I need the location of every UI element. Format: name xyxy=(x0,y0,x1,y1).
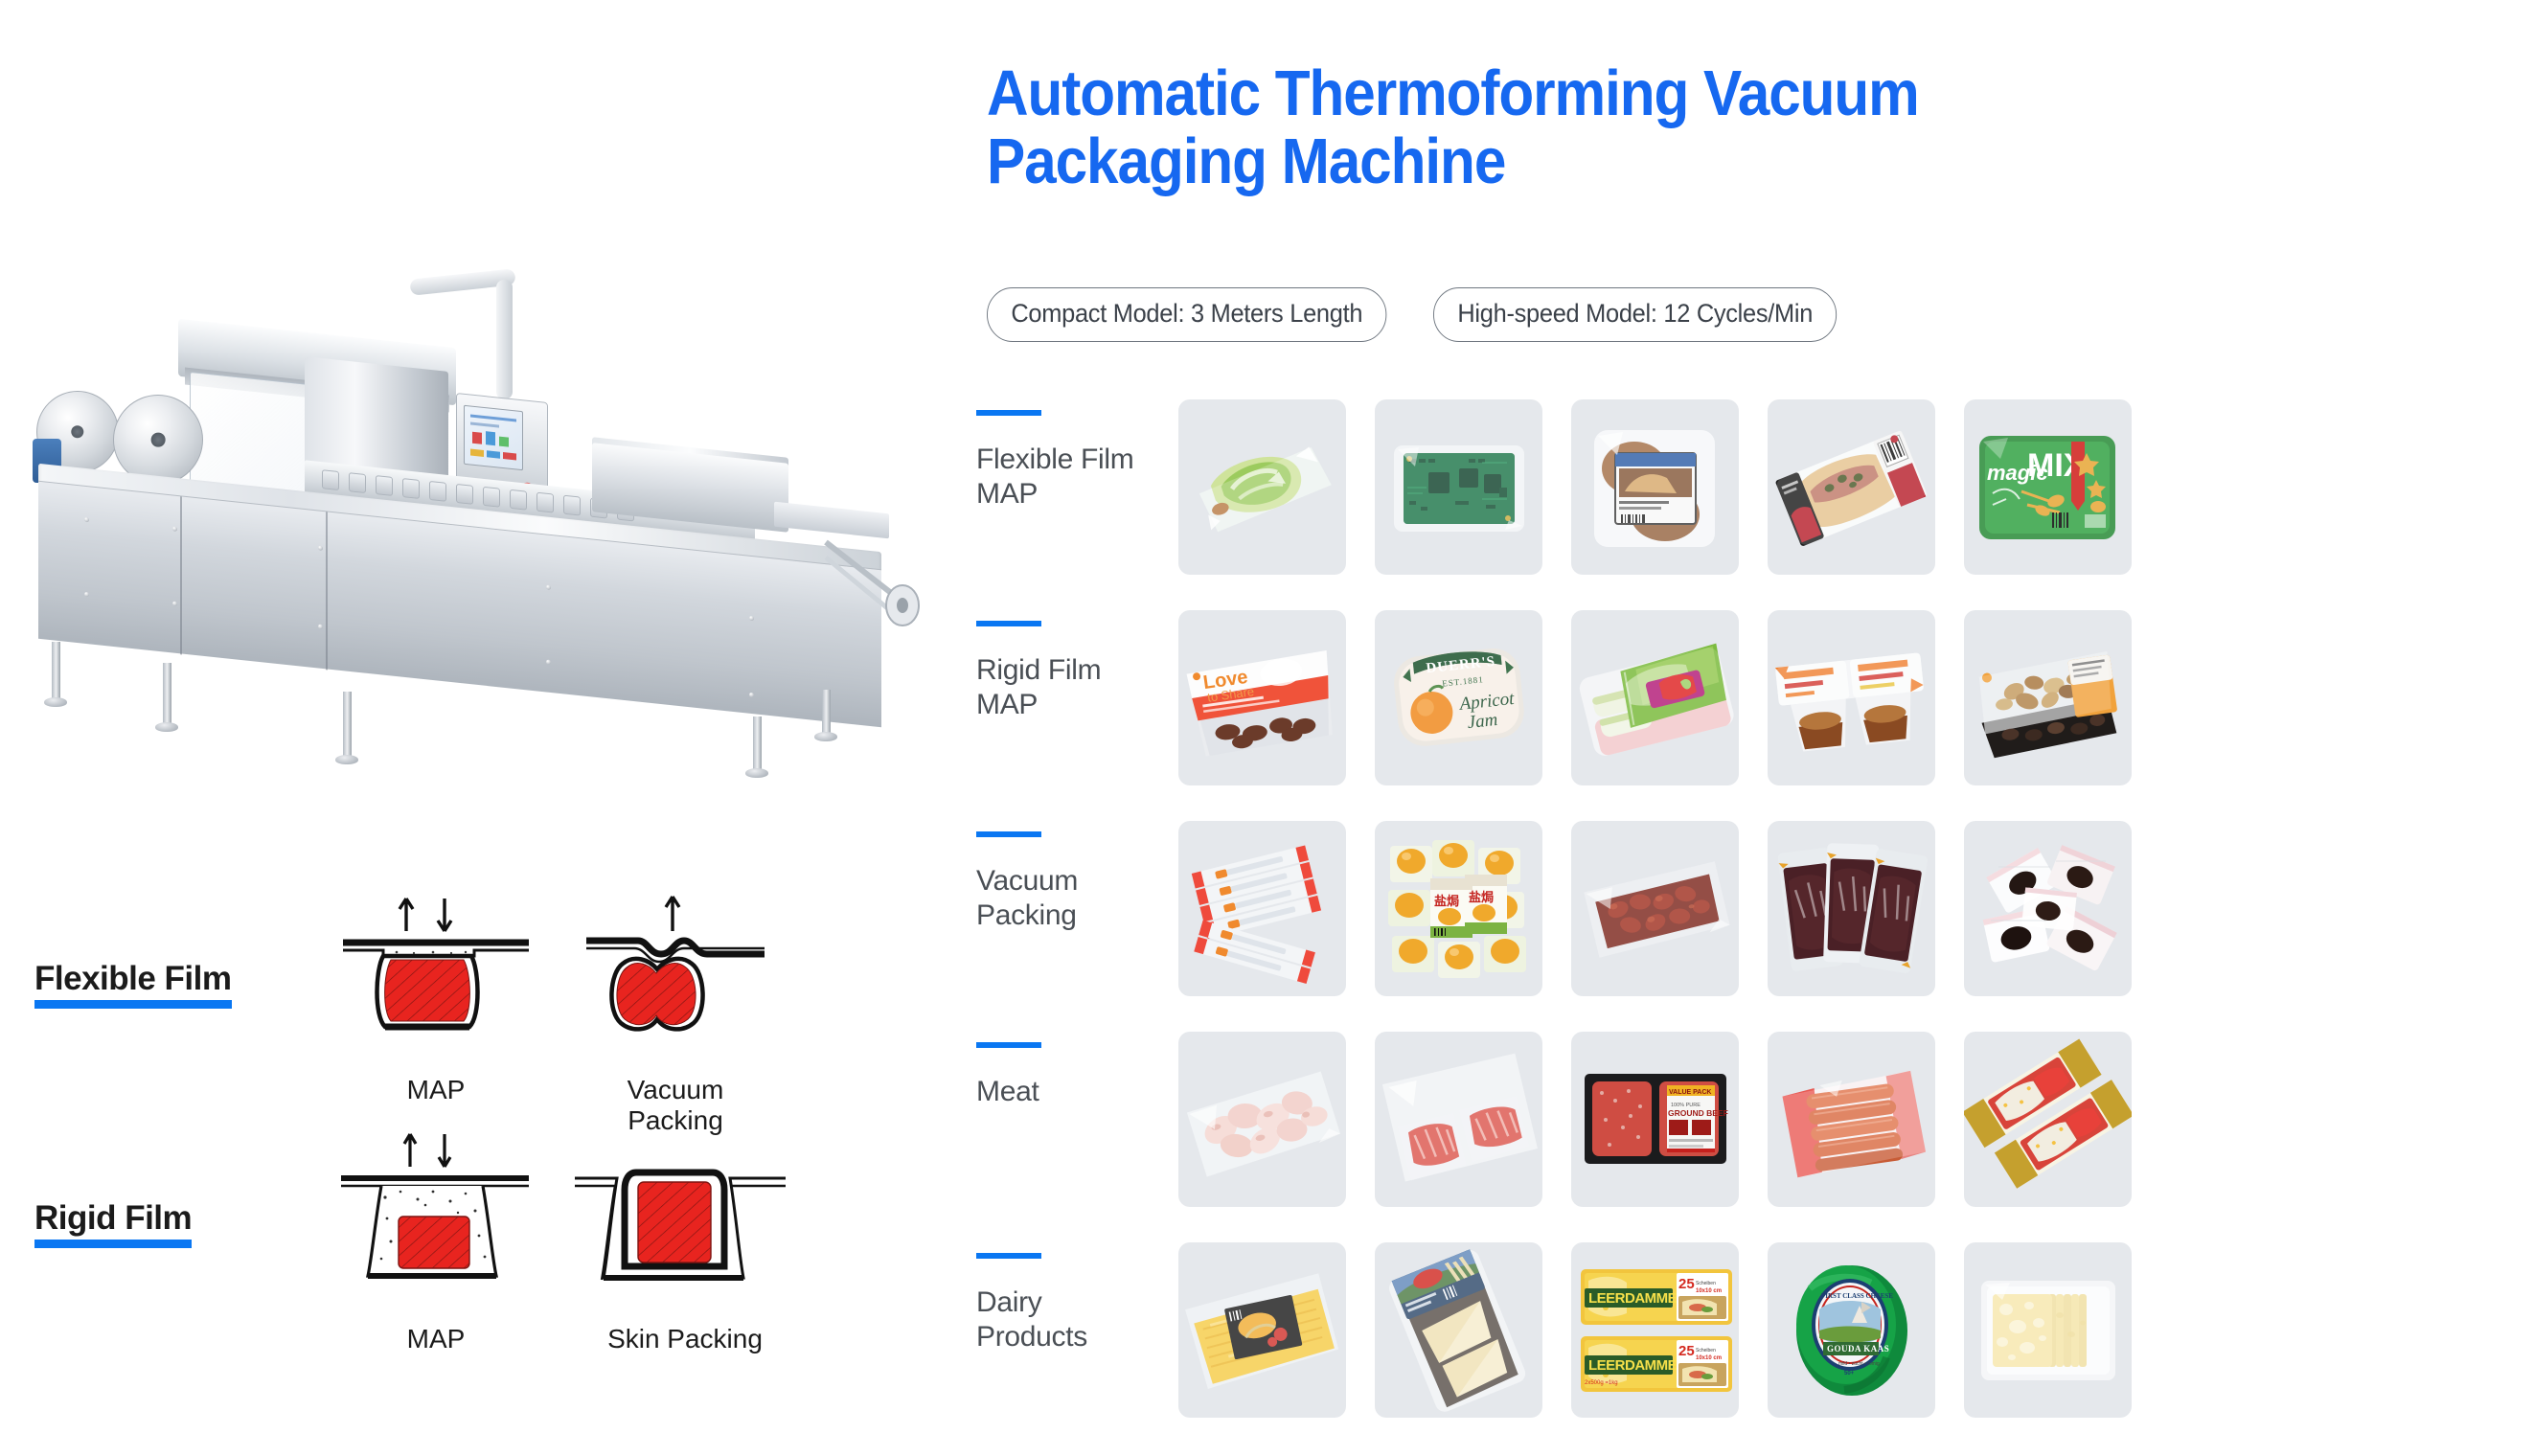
machine-leg xyxy=(52,642,60,701)
page-title-line2: Packaging Machine xyxy=(987,125,1505,197)
product-tile-braised-meat-pouch[interactable] xyxy=(1571,821,1739,996)
product-tile-preserved-fruit-sachets[interactable] xyxy=(1964,821,2132,996)
row-label-rigid-film-map: Rigid Film MAP xyxy=(976,621,1158,722)
machine-foot xyxy=(44,697,67,707)
grid-row-flexible-film-map: Flexible Film MAP xyxy=(968,383,2534,594)
model-badge-group: Compact Model: 3 Meters Length High-spee… xyxy=(987,287,1863,342)
product-tile-mixed-nuts-tray[interactable] xyxy=(1964,610,2132,785)
machine-film-reel-front xyxy=(113,395,203,485)
badge-compact-model[interactable]: Compact Model: 3 Meters Length xyxy=(987,287,1387,342)
label-underline xyxy=(34,1240,192,1248)
application-grid: Flexible Film MAP xyxy=(968,383,2534,1437)
product-tile-kimchi-vegetable-packs[interactable] xyxy=(1964,1032,2132,1207)
product-tile-beef-slices-tray[interactable] xyxy=(1375,1032,1542,1207)
diagram-group-label-text: Flexible Film xyxy=(34,960,232,997)
product-tile-bread-rolls-pack[interactable] xyxy=(1571,399,1739,575)
row-name-line1: Vacuum xyxy=(976,864,1158,899)
product-tile-gouda-wax-cheese[interactable]: FIRST CLASS CHEESE GOUDA KAAS mild • zac… xyxy=(1768,1242,1935,1418)
row-accent-bar xyxy=(976,1253,1041,1259)
row-accent-bar xyxy=(976,621,1041,626)
product-tile-chicken-pieces-pack[interactable] xyxy=(1178,1032,1346,1207)
row-tiles: LEERDAMMER 25 Scheiben 10x10 cm xyxy=(1178,1242,2132,1418)
row-name-line2: Products xyxy=(976,1320,1158,1354)
ground-beef-name-text: GROUND BEEF xyxy=(1668,1108,1728,1118)
diagram-rigid-map xyxy=(326,1123,546,1305)
product-tile-love-to-share-tray[interactable]: Love to Share xyxy=(1178,610,1346,785)
svg-text:mild • zacht • romig: mild • zacht • romig xyxy=(1838,1361,1880,1367)
salted-egg-label-cn-2: 盐焗 xyxy=(1469,890,1494,905)
row-name-line2: Packing xyxy=(976,899,1158,933)
machine-leg xyxy=(753,717,762,772)
row-tiles: Love to Share xyxy=(1178,610,2132,785)
hmi-touchscreen[interactable] xyxy=(464,405,523,471)
svg-text:Scheiben: Scheiben xyxy=(1696,1281,1716,1286)
leerdammer-brand-text-2: LEERDAMMER xyxy=(1588,1357,1687,1374)
grid-row-vacuum-packing: Vacuum Packing xyxy=(968,805,2534,1015)
product-tile-shredded-cheese-tray[interactable] xyxy=(1178,1242,1346,1418)
diagram-group-label-text: Rigid Film xyxy=(34,1199,192,1237)
product-tile-vegetable-tray[interactable] xyxy=(1571,610,1739,785)
grid-row-meat: Meat xyxy=(968,1015,2534,1226)
machine-foot xyxy=(335,755,358,764)
diagram-flexible-map xyxy=(326,881,546,1054)
packaging-method-diagrams: Flexible Film xyxy=(29,862,948,1418)
row-tiles: magic MIX xyxy=(1178,399,2132,575)
leerdammer-count-text-1: 25 xyxy=(1678,1276,1695,1292)
badge-high-speed-model[interactable]: High-speed Model: 12 Cycles/Min xyxy=(1433,287,1837,342)
machine-leg xyxy=(163,663,171,726)
product-tile-medical-syringes-pack[interactable] xyxy=(1178,821,1346,996)
diagram-caption-rigid-skin: Skin Packing xyxy=(584,1324,786,1354)
diagram-group-label-rigid-film: Rigid Film xyxy=(34,1199,192,1240)
product-tile-ground-beef-value-pack[interactable]: VALUE PACK 100% PURE GROUND BEEF xyxy=(1571,1032,1739,1207)
diagram-caption-rigid-map: MAP xyxy=(364,1324,508,1354)
diagram-caption-flexible-map: MAP xyxy=(364,1075,508,1105)
row-label-meat: Meat xyxy=(976,1042,1158,1109)
product-tile-hot-dog-sausages-pack[interactable] xyxy=(1768,1032,1935,1207)
row-label-vacuum-packing: Vacuum Packing xyxy=(976,831,1158,933)
machine-foot xyxy=(814,732,837,741)
row-name-line1: Meat xyxy=(976,1075,1158,1109)
grid-row-dairy-products: Dairy Products xyxy=(968,1226,2534,1437)
product-tile-circuit-board-pack[interactable] xyxy=(1375,399,1542,575)
product-tile-twin-dessert-cups[interactable] xyxy=(1768,610,1935,785)
right-panel: Automatic Thermoforming Vacuum Packaging… xyxy=(968,0,2534,1456)
svg-text:Scheiben: Scheiben xyxy=(1696,1348,1716,1354)
ground-beef-value-pack-text: VALUE PACK xyxy=(1669,1089,1711,1096)
row-name-line1: Rigid Film xyxy=(976,653,1158,688)
machine-leg xyxy=(343,692,352,759)
salted-egg-label-cn-1: 盐焗 xyxy=(1434,894,1459,909)
row-accent-bar xyxy=(976,831,1041,837)
row-label-dairy-products: Dairy Products xyxy=(976,1253,1158,1354)
machine-outfeed-conveyor xyxy=(774,502,889,539)
diagram-flexible-vacuum-packing xyxy=(565,881,786,1054)
machine-scrap-rewind-arm xyxy=(822,536,937,642)
row-name-line2: MAP xyxy=(976,477,1158,512)
row-tiles: VALUE PACK 100% PURE GROUND BEEF xyxy=(1178,1032,2132,1207)
row-label-flexible-film-map: Flexible Film MAP xyxy=(976,410,1158,512)
product-tile-sauce-pouches[interactable] xyxy=(1768,821,1935,996)
gouda-kaas-text: GOUDA KAAS xyxy=(1827,1344,1889,1354)
row-accent-bar xyxy=(976,1042,1041,1048)
row-name-line2: MAP xyxy=(976,688,1158,722)
product-tile-sandwich-pack[interactable] xyxy=(1768,399,1935,575)
product-tile-leerdammer-slices-packs[interactable]: LEERDAMMER 25 Scheiben 10x10 cm xyxy=(1571,1242,1739,1418)
machine-support-arm-vertical xyxy=(496,280,513,399)
label-underline xyxy=(34,1000,232,1009)
row-name-line1: Dairy xyxy=(976,1285,1158,1320)
product-tile-swiss-cheese-slices-tray[interactable] xyxy=(1964,1242,2132,1418)
product-tile-duerrs-apricot-jam-cup[interactable]: DUERR'S EST.1881 Apricot Jam xyxy=(1375,610,1542,785)
diagram-rigid-skin-packing xyxy=(565,1123,795,1305)
machine-foot xyxy=(155,722,178,732)
leerdammer-size-text-2: 10x10 cm xyxy=(1696,1355,1722,1361)
product-tile-magic-mix-snack-pack[interactable]: magic MIX xyxy=(1964,399,2132,575)
product-tile-cheese-wedges-tray[interactable] xyxy=(1375,1242,1542,1418)
machine-foot xyxy=(745,768,768,778)
leerdammer-count-text-2: 25 xyxy=(1678,1343,1695,1359)
svg-text:2x500g =1kg: 2x500g =1kg xyxy=(1585,1380,1618,1386)
left-panel: Flexible Film xyxy=(0,0,968,1456)
diagram-group-label-flexible-film: Flexible Film xyxy=(34,960,232,1001)
leerdammer-brand-text-1: LEERDAMMER xyxy=(1588,1290,1687,1307)
row-accent-bar xyxy=(976,410,1041,416)
machine-photo xyxy=(17,220,951,757)
leerdammer-size-text-1: 10x10 cm xyxy=(1696,1288,1722,1294)
product-tile-salted-eggs-packs[interactable]: 盐焗 盐焗 xyxy=(1375,821,1542,996)
machine-leg xyxy=(822,690,831,736)
svg-text:50+: 50+ xyxy=(1844,1371,1855,1376)
page-title: Automatic Thermoforming Vacuum Packaging… xyxy=(987,59,2125,195)
row-name-line1: Flexible Film xyxy=(976,443,1158,477)
product-tile-lettuce-flow-pack[interactable] xyxy=(1178,399,1346,575)
product-infographic-page: Flexible Film xyxy=(0,0,2534,1456)
gouda-first-class-text: FIRST CLASS CHEESE xyxy=(1821,1292,1893,1300)
row-tiles: 盐焗 盐焗 xyxy=(1178,821,2132,996)
page-title-line1: Automatic Thermoforming Vacuum xyxy=(987,57,1919,129)
grid-row-rigid-film-map: Rigid Film MAP xyxy=(968,594,2534,805)
